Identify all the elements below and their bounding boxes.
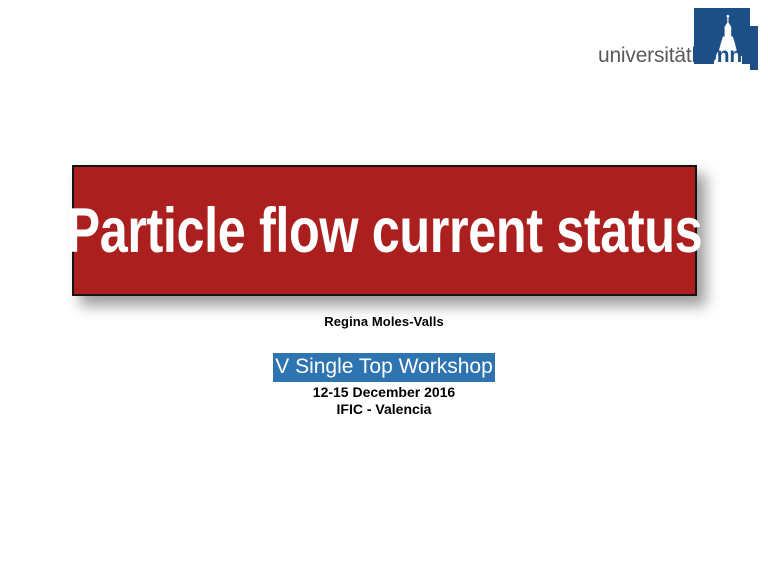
- university-bonn-logo: universitätbonn: [578, 8, 758, 80]
- presentation-slide: universitätbonn Particle flow current st…: [0, 0, 768, 576]
- author-name: Regina Moles-Valls: [0, 314, 768, 329]
- workshop-link[interactable]: V Single Top Workshop: [273, 353, 495, 382]
- logo-word-universitaet: universität: [598, 44, 692, 67]
- event-date: 12-15 December 2016: [0, 384, 768, 400]
- page-title: Particle flow current status: [67, 199, 703, 263]
- event-location: IFIC - Valencia: [0, 401, 768, 417]
- logo-accent-bar: [750, 26, 758, 70]
- logo-word-bonn: bonn: [691, 44, 742, 67]
- logo-wordmark: universitätbonn: [582, 44, 742, 68]
- workshop-line: V Single Top Workshop: [0, 353, 768, 382]
- title-banner: Particle flow current status: [72, 165, 697, 296]
